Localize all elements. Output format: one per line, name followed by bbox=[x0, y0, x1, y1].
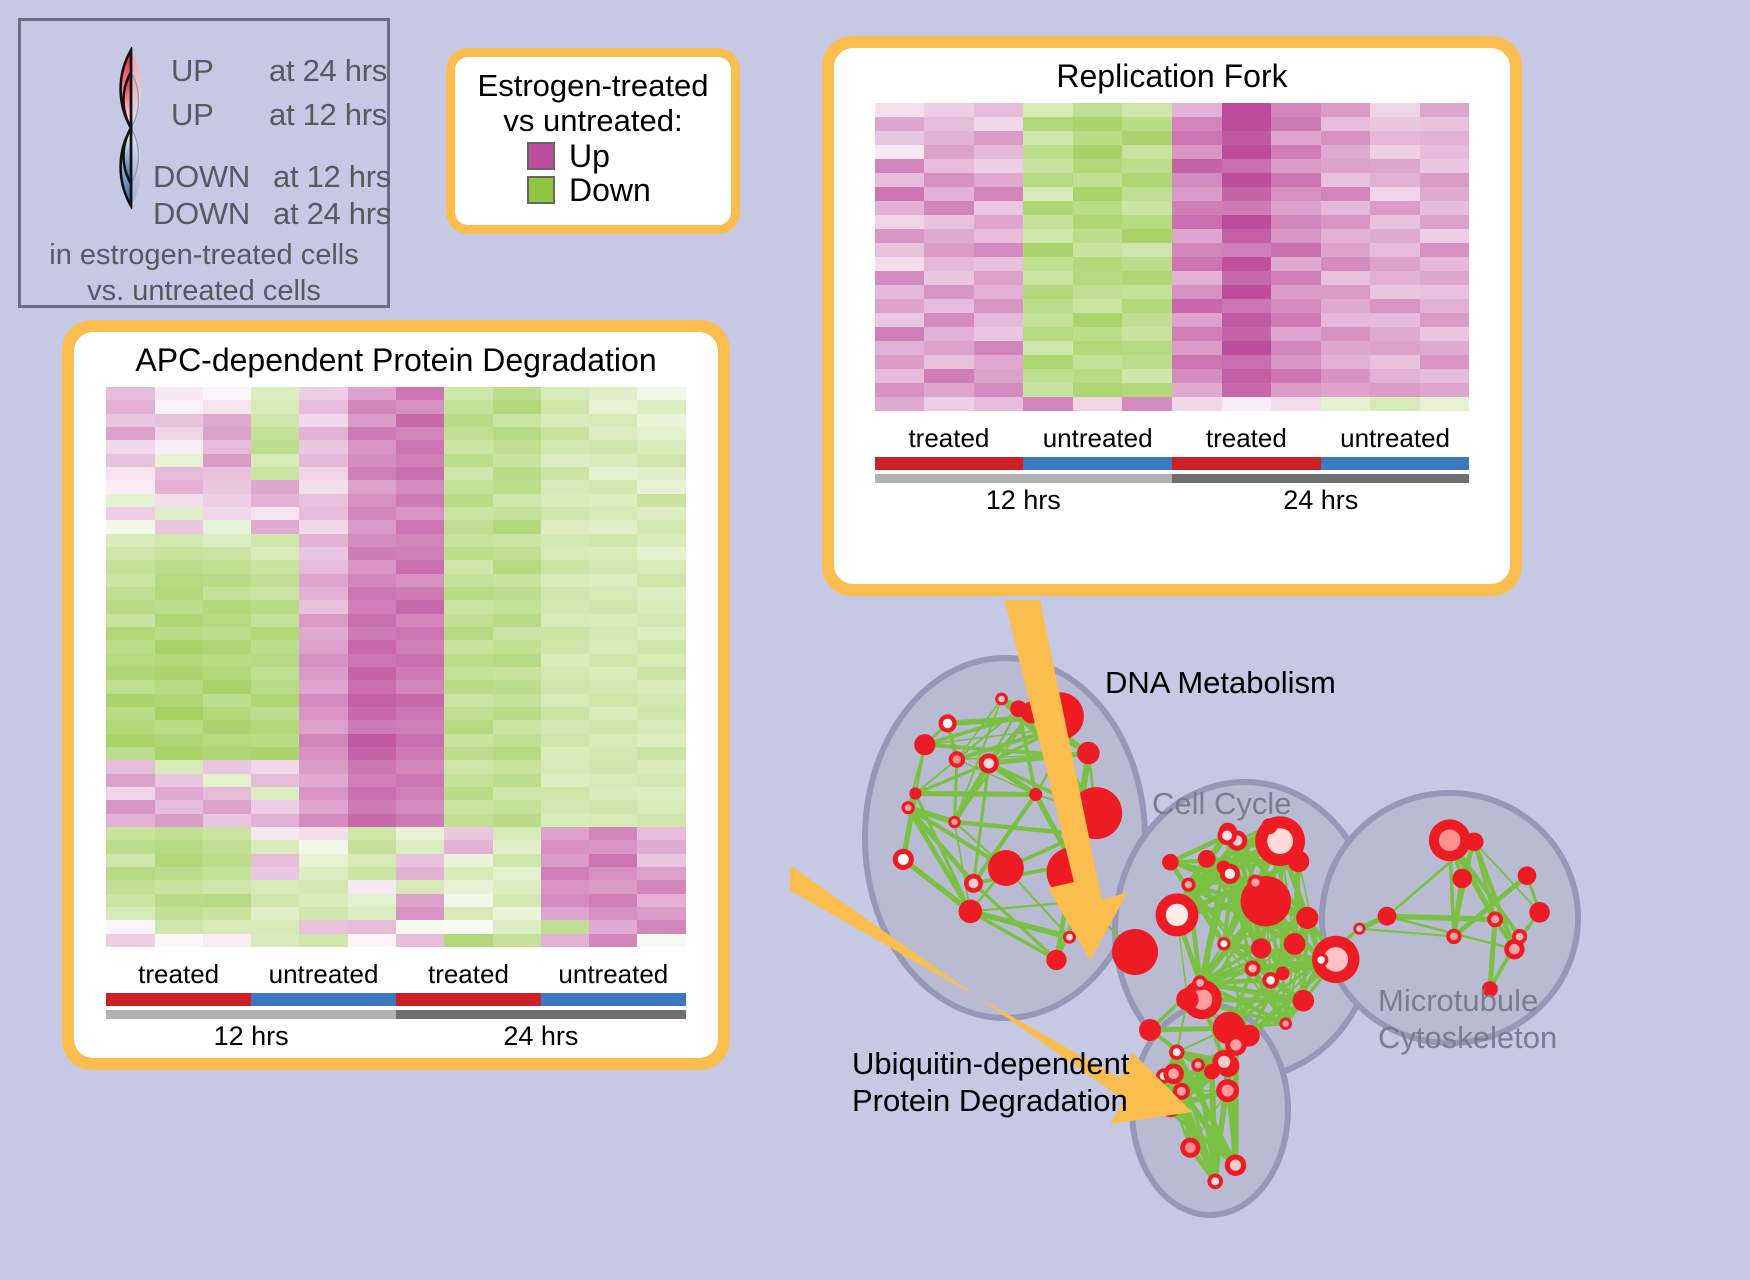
heatmap-cell bbox=[974, 313, 1024, 327]
heatmap-cell bbox=[396, 747, 444, 760]
heatmap-cell bbox=[1023, 117, 1073, 131]
heatmap-cell bbox=[396, 614, 444, 627]
heatmap-cell bbox=[637, 654, 685, 667]
heatmap-cell bbox=[106, 800, 154, 813]
heatmap-cell bbox=[637, 800, 685, 813]
heatmap-cell bbox=[251, 587, 299, 600]
heatmap-cell bbox=[1222, 243, 1272, 257]
time-label: 12 hrs bbox=[875, 485, 1172, 516]
heatmap-cell bbox=[299, 680, 347, 693]
heatmap-cell bbox=[637, 787, 685, 800]
heatmap-cell bbox=[924, 215, 974, 229]
wheel-caption-line2: vs. untreated cells bbox=[21, 275, 387, 308]
heatmap-cell bbox=[348, 627, 396, 640]
heatmap-cell bbox=[1023, 103, 1073, 117]
heatmap-cell bbox=[589, 507, 637, 520]
heatmap-cell bbox=[589, 760, 637, 773]
network-node bbox=[1207, 1174, 1223, 1190]
heatmap-cell bbox=[1023, 271, 1073, 285]
heatmap-cell bbox=[974, 257, 1024, 271]
heatmap-cell bbox=[1271, 355, 1321, 369]
heatmap-cell bbox=[875, 257, 925, 271]
heatmap-cell bbox=[1023, 187, 1073, 201]
heatmap-cell bbox=[637, 734, 685, 747]
heatmap-cell bbox=[251, 440, 299, 453]
heatmap-cell bbox=[1023, 201, 1073, 215]
heatmap-cell bbox=[541, 494, 589, 507]
heatmap-cell bbox=[155, 774, 203, 787]
heatmap-cell bbox=[299, 654, 347, 667]
heatmap-cell bbox=[155, 507, 203, 520]
heatmap-cell bbox=[541, 654, 589, 667]
heatmap-cell bbox=[444, 760, 492, 773]
heatmap-cell bbox=[1321, 327, 1371, 341]
cluster-label-ubiquitin-line1: Ubiquitin-dependent bbox=[852, 1046, 1130, 1083]
network-edge bbox=[915, 793, 1035, 794]
cluster-label-ubiquitin-degradation: Ubiquitin-dependent Protein Degradation bbox=[852, 1046, 1130, 1119]
network-node bbox=[1429, 819, 1471, 861]
heatmap-cell bbox=[1222, 159, 1272, 173]
heatmap-cell bbox=[1172, 117, 1222, 131]
heatmap-cell bbox=[493, 614, 541, 627]
heatmap-cell bbox=[251, 747, 299, 760]
heatmap-cell bbox=[1321, 369, 1371, 383]
heatmap-cell bbox=[1122, 257, 1172, 271]
heatmap-cell bbox=[1370, 243, 1420, 257]
heatmap-cell bbox=[974, 187, 1024, 201]
cluster-label-microtubule-line1: Microtubule bbox=[1378, 983, 1557, 1020]
heatmap-cell bbox=[1420, 383, 1470, 397]
network-node bbox=[893, 849, 914, 870]
heatmap-cell bbox=[1073, 285, 1123, 299]
heatmap-cell bbox=[924, 341, 974, 355]
heatmap-cell bbox=[924, 299, 974, 313]
heatmap-cell bbox=[444, 840, 492, 853]
heatmap-cell bbox=[1172, 355, 1222, 369]
heatmap-cell bbox=[155, 894, 203, 907]
network-node bbox=[1284, 933, 1306, 955]
heatmap-cell bbox=[106, 840, 154, 853]
heatmap-cell bbox=[875, 271, 925, 285]
heatmap-cell bbox=[203, 920, 251, 933]
heatmap-cell bbox=[1122, 201, 1172, 215]
heatmap-cell bbox=[203, 507, 251, 520]
heatmap-cell bbox=[203, 440, 251, 453]
heatmap-cell bbox=[924, 397, 974, 411]
heatmap-cell bbox=[493, 574, 541, 587]
heatmap-cell bbox=[1370, 117, 1420, 131]
heatmap-cell bbox=[974, 271, 1024, 285]
network-node bbox=[1191, 1058, 1205, 1072]
heatmap-cell bbox=[1370, 145, 1420, 159]
heatmap-cell bbox=[1271, 299, 1321, 313]
network-node bbox=[1314, 953, 1328, 967]
heatmap-cell bbox=[637, 760, 685, 773]
panel-replication-fork: Replication Fork treateduntreatedtreated… bbox=[822, 36, 1522, 596]
heatmap-cell bbox=[251, 454, 299, 467]
down-swatch-icon bbox=[527, 176, 555, 204]
heatmap-cell bbox=[155, 467, 203, 480]
heatmap-cell bbox=[1420, 397, 1470, 411]
heatmap-cell bbox=[589, 747, 637, 760]
heatmap-cell bbox=[251, 414, 299, 427]
heatmap-cell bbox=[1073, 145, 1123, 159]
heatmap-cell bbox=[1420, 229, 1470, 243]
heatmap-cell bbox=[348, 614, 396, 627]
heatmap-cell bbox=[493, 720, 541, 733]
heatmap-cell bbox=[348, 560, 396, 573]
heatmap-cell bbox=[444, 640, 492, 653]
heatmap-cell bbox=[589, 707, 637, 720]
heatmap-cell bbox=[1370, 201, 1420, 215]
heatmap-cell bbox=[155, 760, 203, 773]
time-labels: 12 hrs24 hrs bbox=[875, 485, 1470, 516]
heatmap-cell bbox=[444, 707, 492, 720]
heatmap-cell bbox=[251, 507, 299, 520]
heatmap-cell bbox=[974, 117, 1024, 131]
heatmap-cell bbox=[396, 467, 444, 480]
heatmap-cell bbox=[589, 827, 637, 840]
wheel-ring-time-2: at 12 hrs bbox=[273, 159, 391, 195]
heatmap-cell bbox=[637, 667, 685, 680]
heatmap-cell bbox=[1023, 327, 1073, 341]
heatmap-cell bbox=[637, 934, 685, 947]
heatmap-cell bbox=[348, 400, 396, 413]
heatmap-cell bbox=[1172, 229, 1222, 243]
heatmap-cell bbox=[299, 520, 347, 533]
heatmap-cell bbox=[1271, 243, 1321, 257]
heatmap-cell bbox=[203, 534, 251, 547]
heatmap-cell bbox=[637, 494, 685, 507]
heatmap-cell bbox=[106, 480, 154, 493]
heatmap-cell bbox=[589, 867, 637, 880]
time-label: 24 hrs bbox=[396, 1021, 686, 1052]
heatmap-cell bbox=[1370, 355, 1420, 369]
condition-labels: treateduntreatedtreateduntreated bbox=[875, 423, 1470, 454]
heatmap-cell bbox=[541, 880, 589, 893]
heatmap-cell bbox=[396, 920, 444, 933]
heatmap-cell bbox=[203, 574, 251, 587]
heatmap-cell bbox=[299, 454, 347, 467]
heatmap-cell bbox=[299, 414, 347, 427]
heatmap-cell bbox=[155, 654, 203, 667]
heatmap-cell bbox=[1420, 341, 1470, 355]
network-node bbox=[1293, 990, 1315, 1012]
heatmap-cell bbox=[875, 103, 925, 117]
heatmap-cell bbox=[299, 627, 347, 640]
heatmap-cell bbox=[589, 694, 637, 707]
heatmap-cell bbox=[1420, 201, 1470, 215]
heatmap-cell bbox=[1023, 299, 1073, 313]
heatmap-cell bbox=[106, 934, 154, 947]
heatmap-cell bbox=[348, 667, 396, 680]
heatmap-cell bbox=[1370, 299, 1420, 313]
heatmap-cell bbox=[155, 600, 203, 613]
heatmap-cell bbox=[155, 734, 203, 747]
heatmap-cell bbox=[251, 707, 299, 720]
heatmap-cell bbox=[299, 587, 347, 600]
heatmap-cell bbox=[493, 414, 541, 427]
heatmap-cell bbox=[155, 560, 203, 573]
heatmap-cell bbox=[637, 707, 685, 720]
condition-labels: treateduntreatedtreateduntreated bbox=[106, 959, 686, 990]
heatmap-cell bbox=[1370, 103, 1420, 117]
heatmap-cell bbox=[1222, 355, 1272, 369]
heatmap-cell bbox=[348, 507, 396, 520]
network-node bbox=[1452, 869, 1472, 889]
heatmap-cell bbox=[155, 454, 203, 467]
heatmap-cell bbox=[299, 747, 347, 760]
heatmap-cell bbox=[299, 400, 347, 413]
cluster-label-dna-metabolism: DNA Metabolism bbox=[1105, 665, 1336, 701]
condition-bar-segment bbox=[541, 993, 686, 1006]
heatmap-cell bbox=[541, 934, 589, 947]
heatmap-cell bbox=[1172, 271, 1222, 285]
heatmap-cell bbox=[541, 400, 589, 413]
heatmap-cell bbox=[637, 880, 685, 893]
heatmap-cell bbox=[299, 774, 347, 787]
heatmap-cell bbox=[299, 427, 347, 440]
heatmap-cell bbox=[493, 654, 541, 667]
heatmap-cell bbox=[1271, 397, 1321, 411]
heatmap-cell bbox=[299, 707, 347, 720]
time-colour-bar bbox=[875, 474, 1470, 483]
heatmap-cell bbox=[1172, 243, 1222, 257]
heatmap-cell bbox=[444, 680, 492, 693]
condition-label: treated bbox=[1172, 423, 1321, 454]
condition-bar-segment bbox=[1172, 457, 1321, 470]
heatmap-cell bbox=[444, 934, 492, 947]
network-node bbox=[1217, 937, 1230, 950]
network-node bbox=[948, 816, 960, 828]
heatmap-cell bbox=[348, 800, 396, 813]
heatmap-cell bbox=[299, 854, 347, 867]
panel-title-replication-fork: Replication Fork bbox=[1056, 58, 1287, 95]
time-label: 24 hrs bbox=[1172, 485, 1469, 516]
heatmap-cell bbox=[299, 787, 347, 800]
heatmap-cell bbox=[155, 627, 203, 640]
heatmap-cell bbox=[1023, 341, 1073, 355]
heatmap-cell bbox=[589, 560, 637, 573]
heatmap-cell bbox=[251, 680, 299, 693]
heatmap-cell bbox=[155, 907, 203, 920]
heatmap-cell bbox=[541, 427, 589, 440]
heatmap-cell bbox=[444, 547, 492, 560]
heatmap-cell bbox=[1370, 215, 1420, 229]
heatmap-cell bbox=[1271, 229, 1321, 243]
heatmap-cell bbox=[1172, 215, 1222, 229]
heatmap-cell bbox=[299, 720, 347, 733]
heatmap-cell bbox=[251, 427, 299, 440]
heatmap-cell bbox=[1222, 229, 1272, 243]
heatmap-cell bbox=[348, 680, 396, 693]
network-node bbox=[1220, 864, 1240, 884]
heatmap-cell bbox=[396, 827, 444, 840]
heatmap-cell bbox=[974, 285, 1024, 299]
heatmap-cell bbox=[541, 627, 589, 640]
heatmap-cell bbox=[875, 397, 925, 411]
heatmap-cell bbox=[299, 760, 347, 773]
heatmap-cell bbox=[348, 654, 396, 667]
heatmap-cell bbox=[203, 814, 251, 827]
heatmap-cell bbox=[1073, 201, 1123, 215]
heatmap-cell bbox=[541, 520, 589, 533]
heatmap-cell bbox=[348, 814, 396, 827]
heatmap-cell bbox=[251, 667, 299, 680]
heatmap-cell bbox=[106, 760, 154, 773]
heatmap-cell bbox=[106, 707, 154, 720]
heatmap-cell bbox=[348, 854, 396, 867]
heatmap-cell bbox=[1271, 131, 1321, 145]
heatmap-cell bbox=[637, 520, 685, 533]
heatmap-cell bbox=[348, 440, 396, 453]
heatmap-cell bbox=[1073, 355, 1123, 369]
heatmap-cell bbox=[203, 854, 251, 867]
heatmap-cell bbox=[1222, 201, 1272, 215]
heatmap-cell bbox=[348, 494, 396, 507]
heatmap-cell bbox=[541, 760, 589, 773]
cluster-label-microtubule-line2: Cytoskeleton bbox=[1378, 1020, 1557, 1057]
condition-bar-segment bbox=[1321, 457, 1470, 470]
heatmap-cell bbox=[106, 427, 154, 440]
heatmap-cell bbox=[974, 159, 1024, 173]
heatmap-cell bbox=[637, 467, 685, 480]
condition-bar-segment bbox=[251, 993, 396, 1006]
heatmap-cell bbox=[637, 614, 685, 627]
heatmap-cell bbox=[155, 614, 203, 627]
network-node bbox=[964, 874, 983, 893]
heatmap-cell bbox=[444, 560, 492, 573]
heatmap-cell bbox=[1172, 131, 1222, 145]
heatmap-cell bbox=[589, 574, 637, 587]
heatmap-cell bbox=[348, 907, 396, 920]
heatmap-cell bbox=[251, 814, 299, 827]
heatmap-cell bbox=[203, 547, 251, 560]
network-node bbox=[902, 801, 915, 814]
heatmap-cell bbox=[251, 774, 299, 787]
heatmap-cell bbox=[251, 920, 299, 933]
heatmap-apc bbox=[106, 387, 686, 947]
heatmap-cell bbox=[1321, 201, 1371, 215]
heatmap-cell bbox=[396, 707, 444, 720]
heatmap-cell bbox=[106, 414, 154, 427]
heatmap-cell bbox=[251, 494, 299, 507]
heatmap-cell bbox=[637, 427, 685, 440]
heatmap-cell bbox=[541, 920, 589, 933]
heatmap-cell bbox=[541, 907, 589, 920]
heatmap-cell bbox=[396, 480, 444, 493]
heatmap-cell bbox=[589, 920, 637, 933]
heatmap-cell bbox=[444, 520, 492, 533]
heatmap-cell bbox=[1271, 187, 1321, 201]
legend-label-up: Up bbox=[569, 140, 610, 172]
heatmap-cell bbox=[203, 640, 251, 653]
heatmap-cell bbox=[541, 600, 589, 613]
heatmap-cell bbox=[1321, 243, 1371, 257]
heatmap-cell bbox=[1023, 229, 1073, 243]
heatmap-cell bbox=[589, 454, 637, 467]
heatmap-cell bbox=[1370, 383, 1420, 397]
heatmap-cell bbox=[155, 667, 203, 680]
heatmap-cell bbox=[203, 627, 251, 640]
heatmap-cell bbox=[155, 427, 203, 440]
heatmap-cell bbox=[1073, 117, 1123, 131]
heatmap-cell bbox=[637, 440, 685, 453]
heatmap-cell bbox=[251, 574, 299, 587]
heatmap-cell bbox=[106, 547, 154, 560]
heatmap-cell bbox=[493, 787, 541, 800]
heatmap-cell bbox=[299, 814, 347, 827]
heatmap-cell bbox=[203, 907, 251, 920]
heatmap-cell bbox=[589, 880, 637, 893]
heatmap-cell bbox=[1321, 131, 1371, 145]
heatmap-cell bbox=[924, 243, 974, 257]
heatmap-cell bbox=[444, 387, 492, 400]
heatmap-cell bbox=[637, 907, 685, 920]
heatmap-cell bbox=[493, 894, 541, 907]
heatmap-cell bbox=[637, 534, 685, 547]
network-node bbox=[1251, 938, 1271, 958]
heatmap-cell bbox=[924, 355, 974, 369]
legend-item-down: Down bbox=[527, 174, 721, 206]
heatmap-cell bbox=[203, 720, 251, 733]
heatmap-cell bbox=[299, 880, 347, 893]
heatmap-cell bbox=[1420, 187, 1470, 201]
heatmap-cell bbox=[348, 547, 396, 560]
network-node bbox=[949, 751, 965, 767]
heatmap-cell bbox=[493, 520, 541, 533]
heatmap-cell bbox=[589, 720, 637, 733]
heatmap-cell bbox=[1073, 159, 1123, 173]
heatmap-cell bbox=[1370, 271, 1420, 285]
heatmap-cell bbox=[155, 400, 203, 413]
network-node bbox=[1176, 988, 1198, 1010]
heatmap-cell bbox=[924, 313, 974, 327]
network-node bbox=[1465, 833, 1484, 852]
network-node bbox=[1296, 907, 1318, 929]
heatmap-cell bbox=[444, 814, 492, 827]
heatmap-cell bbox=[493, 507, 541, 520]
heatmap-cell bbox=[1321, 229, 1371, 243]
heatmap-cell bbox=[875, 285, 925, 299]
heatmap-cell bbox=[444, 800, 492, 813]
heatmap-cell bbox=[396, 560, 444, 573]
heatmap-cell bbox=[1420, 215, 1470, 229]
heatmap-cell bbox=[974, 243, 1024, 257]
heatmap-cell bbox=[1222, 327, 1272, 341]
heatmap-cell bbox=[1321, 285, 1371, 299]
heatmap-cell bbox=[1023, 313, 1073, 327]
network-node bbox=[939, 714, 957, 732]
heatmap-cell bbox=[106, 454, 154, 467]
heatmap-cell bbox=[155, 694, 203, 707]
condition-label: untreated bbox=[541, 959, 686, 990]
heatmap-cell bbox=[444, 507, 492, 520]
heatmap-cell bbox=[493, 400, 541, 413]
heatmap-cell bbox=[106, 520, 154, 533]
heatmap-cell bbox=[1271, 341, 1321, 355]
heatmap-cell bbox=[541, 707, 589, 720]
heatmap-cell bbox=[1172, 327, 1222, 341]
heatmap-cell bbox=[637, 600, 685, 613]
heatmap-cell bbox=[974, 341, 1024, 355]
heatmap-cell bbox=[155, 880, 203, 893]
panel-apc-degradation: APC-dependent Protein Degradation treate… bbox=[62, 320, 730, 1070]
heatmap-cell bbox=[1073, 173, 1123, 187]
heatmap-cell bbox=[1023, 257, 1073, 271]
network-node bbox=[1378, 907, 1397, 926]
heatmap-cell bbox=[637, 627, 685, 640]
